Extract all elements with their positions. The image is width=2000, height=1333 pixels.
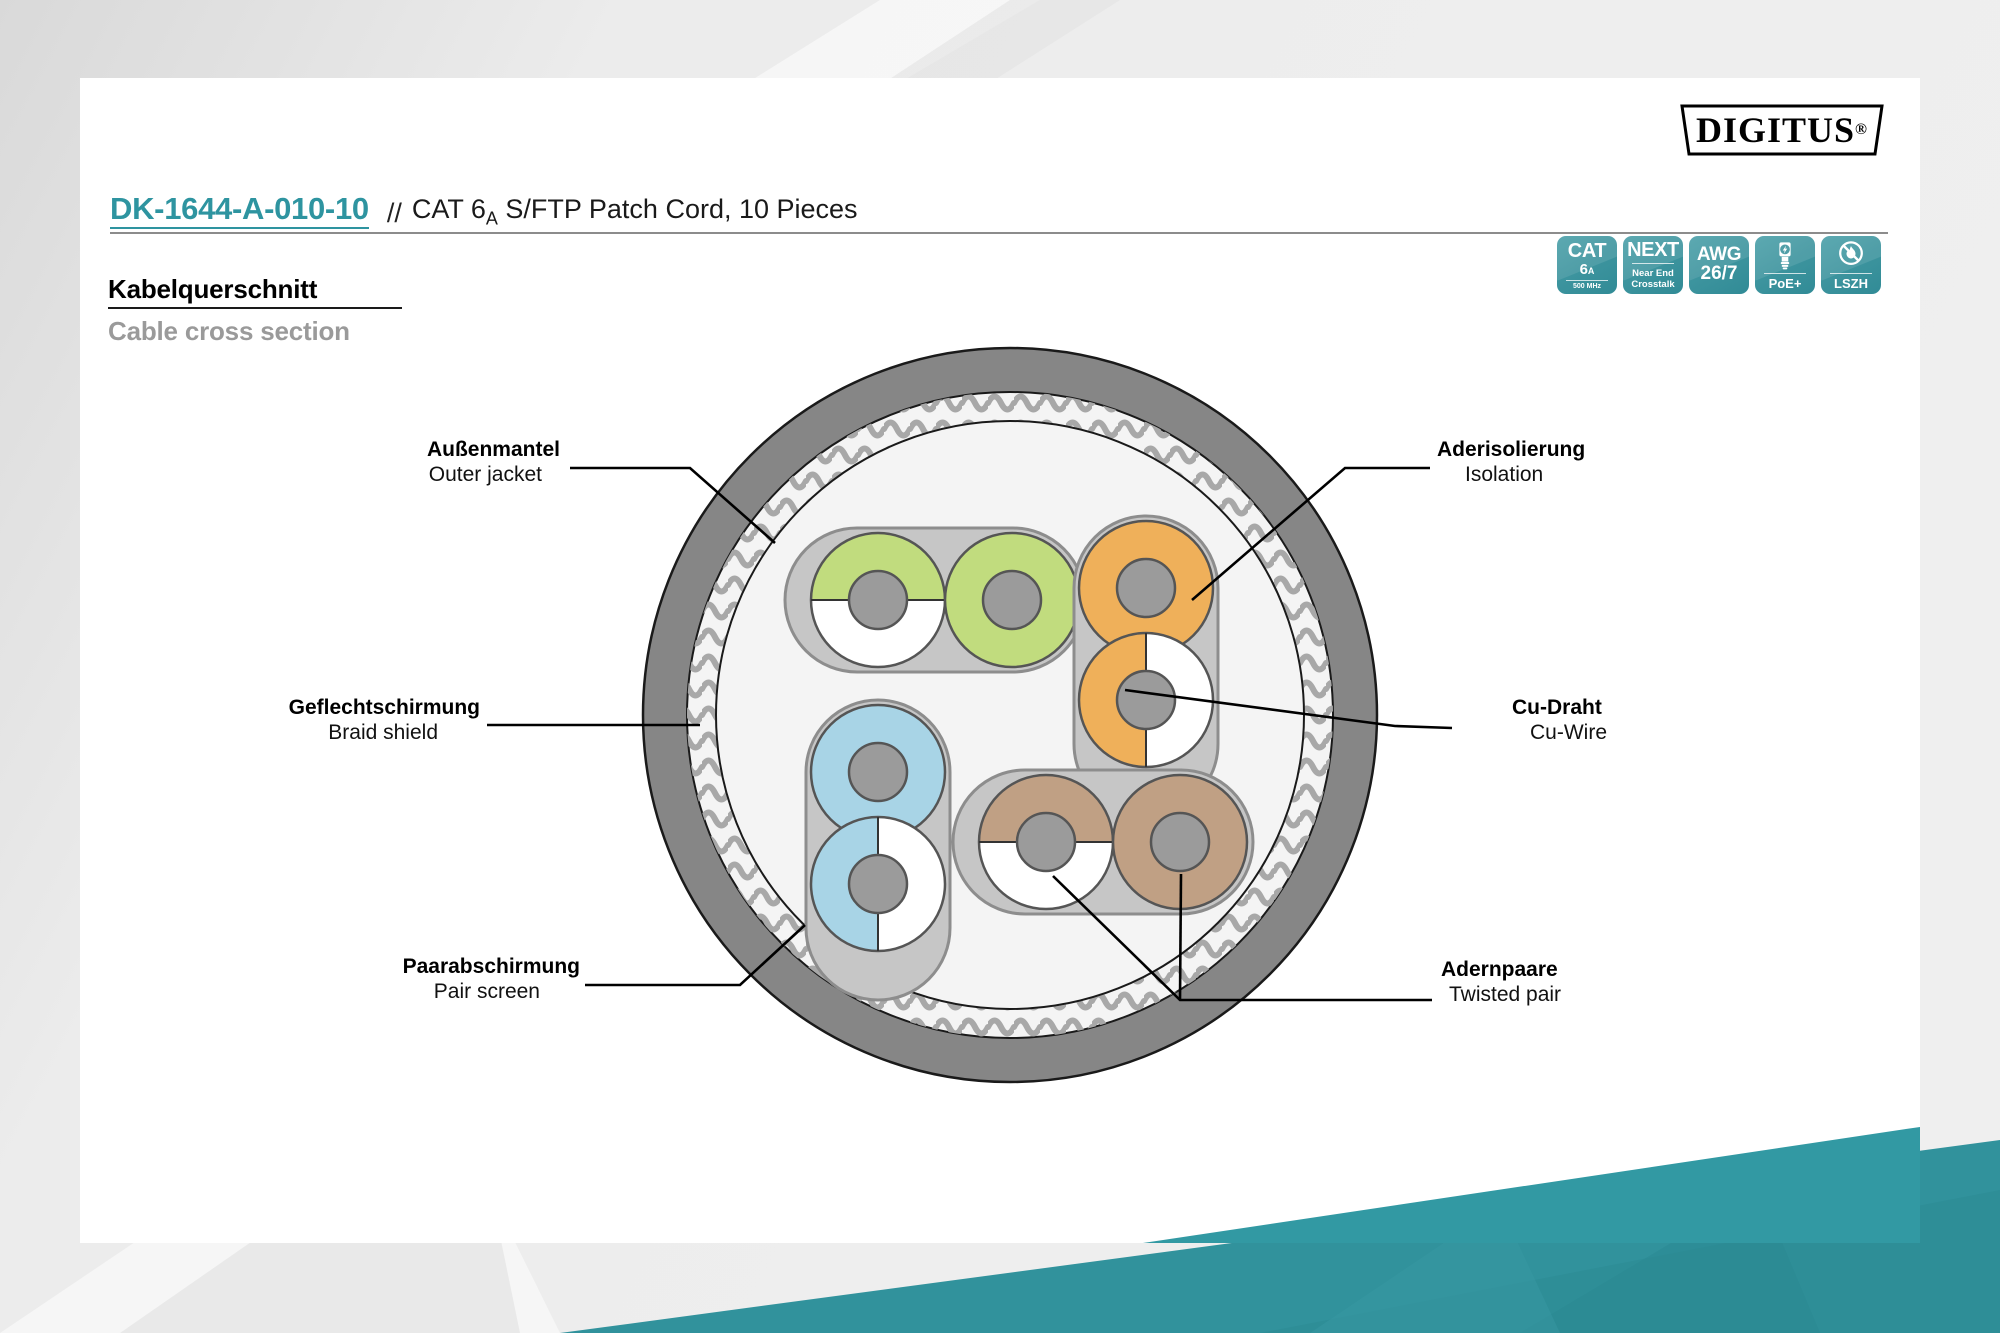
lszh-badge: LSZH: [1821, 236, 1881, 294]
callout-twisted-pair-en: Twisted pair: [1449, 983, 1561, 1008]
section-title-divider: [108, 307, 402, 309]
leader-twisted-pair-2: [1180, 874, 1181, 1000]
product-description: CAT 6A S/FTP Patch Cord, 10 Pieces: [412, 194, 858, 229]
callout-isolation-en: Isolation: [1465, 463, 1585, 488]
cat-badge-sub: 500 MHz: [1573, 283, 1601, 290]
badge-rule: [1566, 280, 1608, 281]
callout-cu-wire-de: Cu-Draht: [1512, 696, 1607, 721]
next-badge-main: NEXT: [1627, 240, 1679, 260]
cu-core: [849, 855, 907, 913]
product-description-post: S/FTP Patch Cord, 10 Pieces: [498, 194, 858, 224]
digitus-wordmark: DIGITUS: [1696, 109, 1855, 151]
cat-badge: CAT 6A 500 MHz: [1557, 236, 1617, 294]
callout-outer-jacket: Außenmantel Outer jacket: [200, 438, 560, 488]
badge-rule: [1632, 263, 1674, 264]
section-title-en: Cable cross section: [108, 316, 350, 347]
cu-core: [849, 571, 907, 629]
cu-core: [983, 571, 1041, 629]
callout-pair-screen-de: Paarabschirmung: [200, 955, 580, 980]
badge-rule: [1764, 273, 1806, 274]
next-badge-sub-line2: Crosstalk: [1631, 280, 1674, 291]
cu-core: [1117, 671, 1175, 729]
title-separator: //: [387, 198, 402, 229]
awg-badge: AWG 26/7: [1689, 236, 1749, 294]
cat-badge-category: 6A: [1580, 262, 1595, 277]
callout-braid-shield-de: Geflechtschirmung: [110, 696, 480, 721]
lszh-badge-sub: LSZH: [1834, 277, 1868, 290]
no-flame-icon: [1836, 240, 1866, 270]
cu-core: [1117, 559, 1175, 617]
cu-core: [849, 743, 907, 801]
next-badge: NEXT Near End Crosstalk: [1623, 236, 1683, 294]
callout-isolation: Aderisolierung Isolation: [1437, 438, 1585, 488]
cat-badge-suffix: A: [1588, 266, 1595, 276]
pair-brown: [953, 770, 1253, 914]
cu-core: [1151, 813, 1209, 871]
product-sku: DK-1644-A-010-10: [110, 193, 369, 229]
callout-braid-shield: Geflechtschirmung Braid shield: [110, 696, 480, 746]
poe-badge: PoE+: [1755, 236, 1815, 294]
digitus-logo: DIGITUS®: [1676, 100, 1888, 160]
cat-badge-main: CAT: [1568, 241, 1606, 261]
pair-green: [785, 528, 1085, 672]
callout-cu-wire: Cu-Draht Cu-Wire: [1512, 696, 1607, 746]
cat-badge-number: 6: [1580, 261, 1588, 278]
callout-outer-jacket-de: Außenmantel: [200, 438, 560, 463]
product-description-subscript: A: [486, 208, 498, 228]
cu-core: [1017, 813, 1075, 871]
next-badge-sub-line1: Near End: [1631, 269, 1674, 280]
poe-badge-sub: PoE+: [1769, 277, 1802, 290]
awg-badge-value: 26/7: [1701, 264, 1738, 285]
callout-pair-screen-en: Pair screen: [200, 980, 540, 1005]
awg-badge-main: AWG: [1697, 245, 1741, 264]
callout-braid-shield-en: Braid shield: [110, 721, 438, 746]
pair-blue: [806, 700, 950, 1000]
registered-mark-icon: ®: [1855, 122, 1868, 138]
callout-pair-screen: Paarabschirmung Pair screen: [200, 955, 580, 1005]
wire-green-solid: [945, 533, 1079, 667]
product-description-pre: CAT 6: [412, 194, 486, 224]
callout-twisted-pair-de: Adernpaare: [1441, 958, 1561, 983]
section-title-de: Kabelquerschnitt: [108, 274, 317, 305]
callout-twisted-pair: Adernpaare Twisted pair: [1441, 958, 1561, 1008]
badge-rule: [1830, 273, 1872, 274]
feature-badges: CAT 6A 500 MHz NEXT Near End Crosstalk A…: [1557, 236, 1881, 294]
product-title-row: DK-1644-A-010-10 // CAT 6A S/FTP Patch C…: [110, 183, 1888, 229]
digitus-logo-text: DIGITUS®: [1676, 100, 1888, 160]
callout-outer-jacket-en: Outer jacket: [200, 463, 542, 488]
callout-cu-wire-en: Cu-Wire: [1530, 721, 1607, 746]
callout-isolation-de: Aderisolierung: [1437, 438, 1585, 463]
next-badge-sub: Near End Crosstalk: [1631, 269, 1674, 290]
rj45-plug-lightning-icon: [1770, 240, 1800, 270]
title-divider: [110, 232, 1888, 234]
